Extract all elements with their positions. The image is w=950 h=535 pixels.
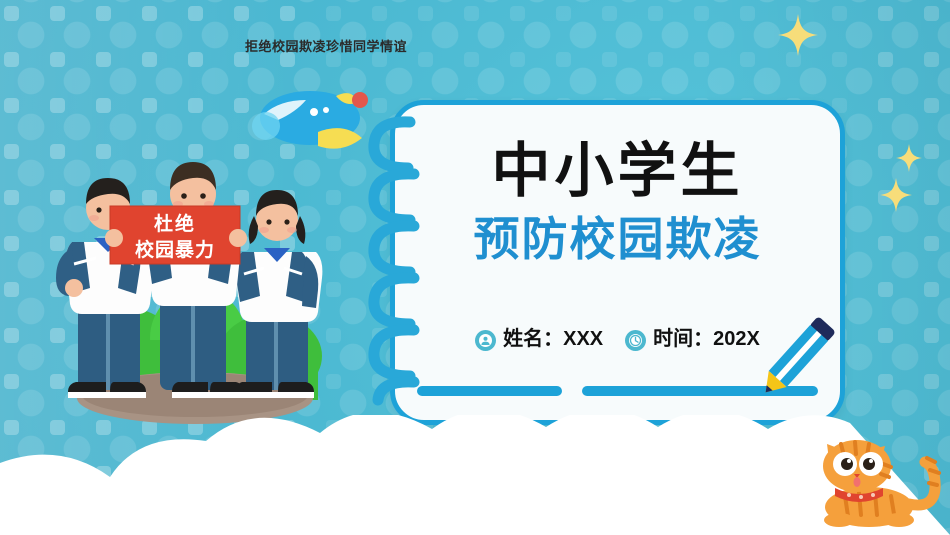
meta-time-text: 时间：202X <box>653 327 760 352</box>
svg-text:杜绝: 杜绝 <box>154 212 196 235</box>
airplane-icon <box>252 78 374 156</box>
meta-name: 姓名：XXX <box>475 327 603 352</box>
header-slogan: 拒绝校园欺凌珍惜同学情谊 <box>245 36 407 55</box>
slide-canvas: 拒绝校园欺凌珍惜同学情谊 <box>0 0 950 535</box>
page-subtitle: 预防校园欺凌 <box>395 215 840 263</box>
sparkle-icon <box>896 144 922 172</box>
meta-time: 时间：202X <box>625 327 760 352</box>
sparkle-icon <box>880 178 912 212</box>
pencil-icon <box>752 306 842 406</box>
decoration-bar-short <box>417 386 562 396</box>
students-illustration: 杜绝 校园暴力 <box>38 130 348 430</box>
svg-text:校园暴力: 校园暴力 <box>135 238 215 261</box>
page-title: 中小学生 <box>395 141 840 201</box>
meta-name-text: 姓名：XXX <box>503 327 603 352</box>
person-circle-icon <box>475 330 496 351</box>
cat-icon <box>805 438 945 535</box>
sparkle-icon <box>778 14 818 56</box>
spiral-binding <box>358 108 428 420</box>
clock-circle-icon <box>625 330 646 351</box>
protest-banner: 杜绝 校园暴力 <box>110 206 240 264</box>
